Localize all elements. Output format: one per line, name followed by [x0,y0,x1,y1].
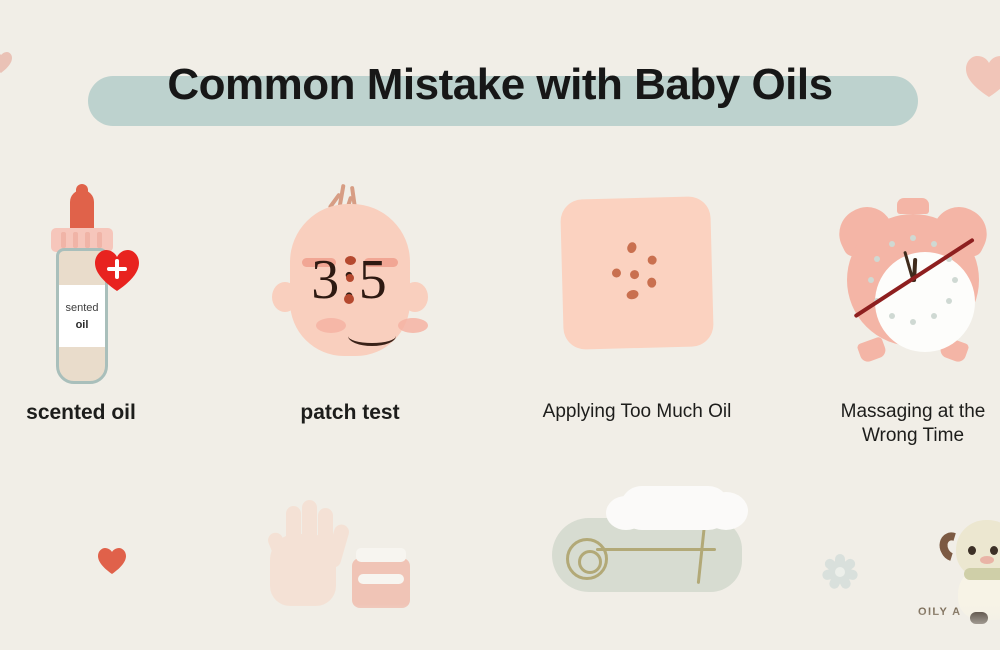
rolled-towel-illustration [552,486,748,596]
bottle-label-line2: oil [76,319,89,331]
card-art-wrong-time [788,178,1000,393]
clock-tick [910,319,916,325]
bottle-label-line1: sented [65,302,98,314]
baby-face-icon: 3:5 [268,186,432,386]
baby-mouth [348,326,396,346]
baby-rash-spot [346,274,354,282]
bottom-fade [0,604,1000,650]
clock-tick [952,277,958,283]
patch-spot [626,289,640,301]
card-wrong-time: Massaging at the Wrong Time [788,178,1000,393]
card-art-too-much-oil [512,178,762,393]
baby-cheek-left [316,318,346,333]
corner-heart-icon [966,56,1000,98]
towel-foam [620,486,730,530]
patch-spot [647,278,656,288]
card-art-patch-test: 3:5 [225,178,475,393]
card-label-wrong-time: Massaging at the Wrong Time [788,400,1000,449]
card-label-too-much-oil: Applying Too Much Oil [512,400,762,424]
card-label-wrong-time-line1: Massaging at the [841,401,986,422]
card-label-patch-test: patch test [225,400,475,427]
jar-band [358,574,404,584]
baby-cheek-right [398,318,428,333]
card-label-scented-oil: scented oil [0,400,206,427]
baby-rash-spot [345,256,356,265]
mascot-wordmark: OILY A [918,606,1000,618]
mascot-scarf [964,568,1000,580]
clock-knob [897,198,929,214]
patch-spot [612,268,621,277]
clock-tick [868,277,874,283]
bottle-label: sented oil [59,285,105,347]
flower-icon [820,552,860,592]
towel-seam [596,548,716,551]
clock-foot-left [856,336,887,364]
heart-shape [98,548,126,574]
small-heart-icon [98,548,126,574]
patch-spot [626,241,638,254]
clock-tick [931,241,937,247]
baby-bottle-icon: sented oil [39,190,125,390]
collar-rib [97,232,102,248]
page-title: Common Mistake with Baby Oils [0,60,1000,110]
infographic-canvas: Common Mistake with Baby Oils sented oil [0,0,1000,650]
card-scented-oil: sented oil scented oil [0,178,206,393]
alarm-clock-icon [835,192,991,382]
mascot-blush [980,556,994,564]
mascot-eye-left [968,546,976,555]
skin-patch-icon [560,196,714,350]
hand-illustration [266,498,346,608]
heart-shape [0,52,12,74]
card-patch-test: 3:5 patch test [225,178,475,393]
plus-vertical [115,259,119,279]
heart-shape [966,56,1000,98]
hand-palm [270,534,336,606]
clock-tick [874,256,880,262]
clock-tick [910,235,916,241]
mascot-eye-right [990,546,998,555]
card-label-wrong-time-line2: Wrong Time [862,425,964,446]
collar-rib [85,232,90,248]
card-art-scented-oil: sented oil [0,178,206,393]
edge-heart-icon [0,52,12,74]
jar-lid [356,548,406,562]
patch-spot [630,270,639,279]
collar-rib [73,232,78,248]
oil-jar-illustration [352,546,410,608]
flower-core [835,567,845,577]
clock-tick [889,241,895,247]
heart-plus-badge-icon [95,250,139,292]
collar-rib [61,232,66,248]
card-too-much-oil: Applying Too Much Oil [512,178,762,393]
baby-rash-spot [344,294,354,304]
towel-swirl [566,538,608,580]
patch-spot [648,255,657,264]
